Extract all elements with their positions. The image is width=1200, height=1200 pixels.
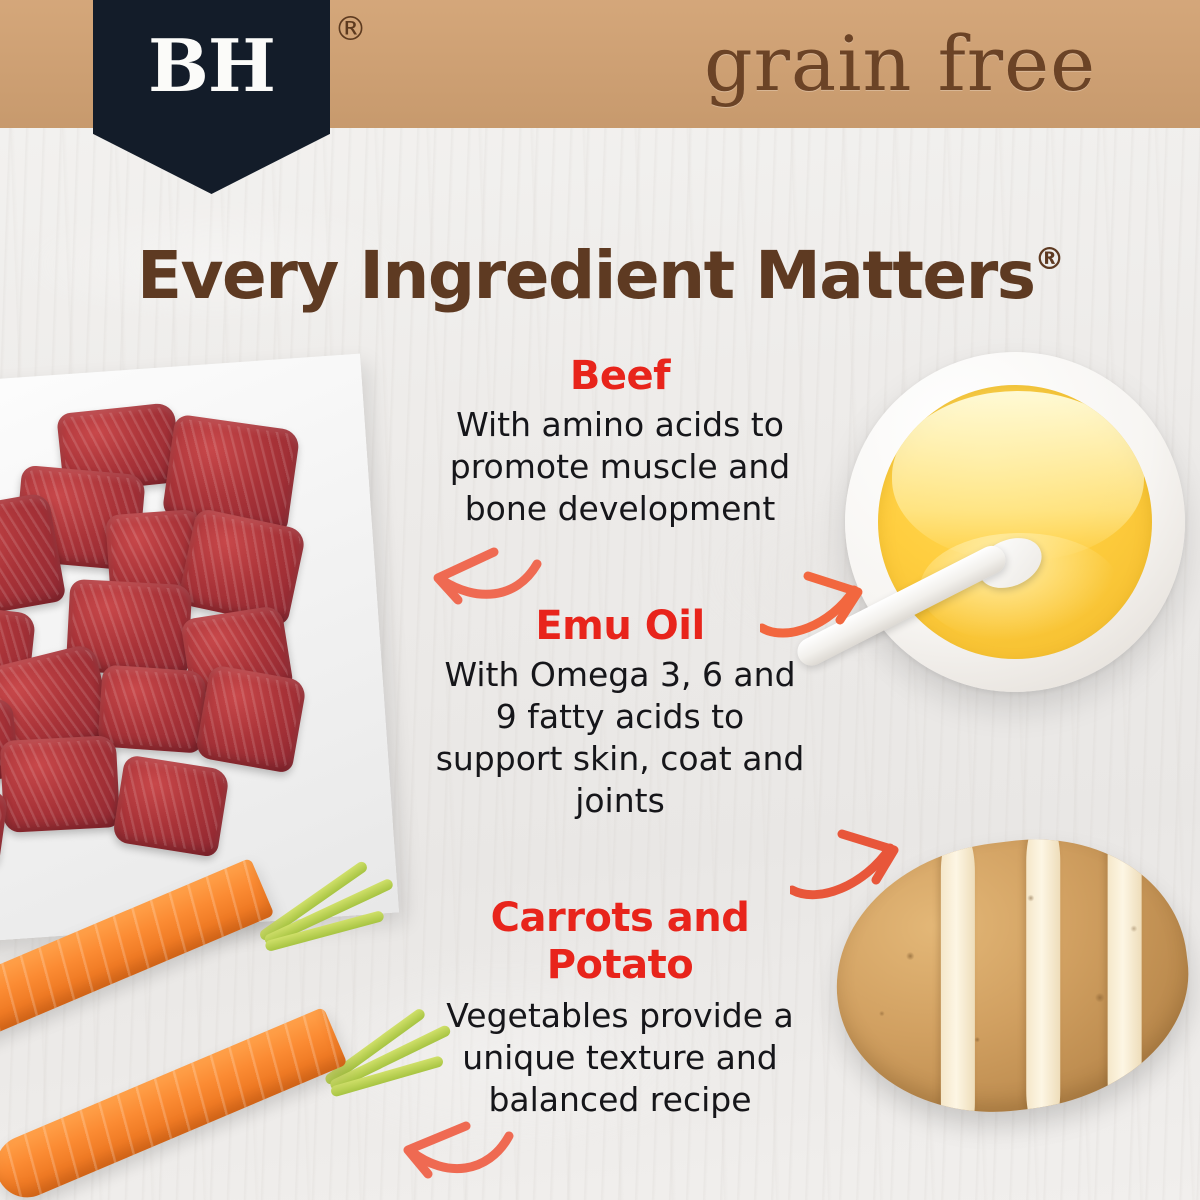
arrow-right-curved-to-potato bbox=[790, 818, 908, 904]
raw-beef-cubes-photo bbox=[0, 350, 420, 950]
page-title-trademark: ® bbox=[1035, 242, 1064, 277]
page-title-text: Every Ingredient Matters bbox=[137, 237, 1035, 314]
page-title: Every Ingredient Matters® bbox=[0, 228, 1200, 314]
ingredient-body-emu-oil: With Omega 3, 6 and 9 fatty acids to sup… bbox=[430, 654, 810, 822]
brand-trademark-symbol: ® bbox=[334, 12, 367, 45]
ingredient-block-beef: Beef With amino acids to promote muscle … bbox=[430, 352, 810, 530]
ingredient-title-beef: Beef bbox=[430, 352, 810, 400]
arrow-left-curved-to-beef bbox=[424, 528, 544, 610]
ingredient-title-carrots-and-potato: Carrots and Potato bbox=[430, 895, 810, 989]
potato-slice bbox=[941, 827, 975, 1131]
ingredient-block-emu-oil: Emu Oil With Omega 3, 6 and 9 fatty acid… bbox=[430, 602, 810, 822]
ingredient-body-beef: With amino acids to promote muscle and b… bbox=[430, 404, 810, 530]
ingredient-body-carrots-and-potato: Vegetables provide a unique texture and … bbox=[430, 995, 810, 1121]
ingredient-infographic-poster: grain free ® BH Every Ingredient Matters… bbox=[0, 0, 1200, 1200]
carrot bbox=[0, 1007, 348, 1200]
beef-cube bbox=[195, 664, 308, 774]
carrots-photo bbox=[0, 880, 410, 1200]
grain-free-tagline: grain free bbox=[640, 16, 1160, 112]
arrow-left-curved-to-carrots bbox=[392, 1108, 516, 1192]
beef-cube bbox=[112, 754, 230, 857]
potato-slice bbox=[1026, 822, 1060, 1131]
emu-oil-liquid bbox=[878, 385, 1152, 659]
beef-cube bbox=[0, 735, 120, 833]
arrow-right-curved-to-emu-oil bbox=[760, 562, 870, 644]
carrot bbox=[0, 858, 275, 1068]
brand-logo-text: BH bbox=[93, 28, 330, 104]
ingredient-block-carrots-and-potato: Carrots and Potato Vegetables provide a … bbox=[430, 895, 810, 1121]
beef-cube bbox=[97, 664, 206, 753]
potato-slice bbox=[1108, 822, 1142, 1127]
emu-oil-bowl-photo bbox=[845, 352, 1200, 752]
